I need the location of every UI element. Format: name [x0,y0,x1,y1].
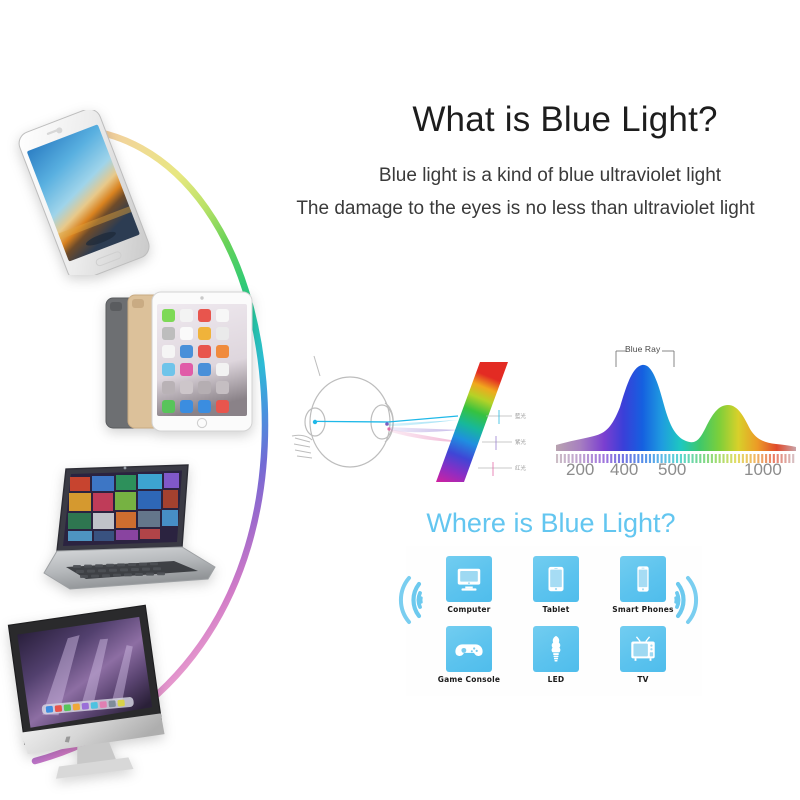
desktop-computer-icon [446,556,492,602]
subtitle-line-1: Blue light is a kind of blue ultraviolet… [300,165,800,187]
gamepad-icon [446,626,492,672]
where-is-blue-light-title: Where is Blue Light? [420,508,682,539]
white-smartphone-photo [8,110,158,275]
smartphone-icon [620,556,666,602]
device-label-tablet: Tablet [515,605,597,614]
tablet-trio-photo [100,282,265,432]
silver-laptop-photo [30,455,220,610]
device-label-led: LED [515,675,597,684]
svg-text:紫光: 紫光 [515,438,527,446]
device-item-computer[interactable]: Computer [446,556,492,602]
wifi-waves-left-icon [379,566,425,634]
device-item-tv[interactable]: TV [620,626,666,672]
imac-desktop-photo [0,600,190,780]
device-item-game-console[interactable]: Game Console [446,626,492,672]
svg-text:藍光: 藍光 [515,412,527,420]
spectrum-chart: 200 400 500 1000 [548,335,800,490]
wifi-waves-right-icon [672,566,718,634]
device-label-smart-phones: Smart Phones [602,605,684,614]
lightbulb-icon [533,626,579,672]
device-label-tv: TV [602,675,684,684]
television-icon [620,626,666,672]
axis-tick-500: 500 [658,460,686,479]
svg-text:红光: 红光 [515,464,527,472]
device-item-led[interactable]: LED [533,626,579,672]
device-item-tablet[interactable]: Tablet [533,556,579,602]
axis-tick-200: 200 [566,460,594,479]
subtitle-line-2: The damage to the eyes is no less than u… [248,198,800,220]
device-item-smart-phones[interactable]: Smart Phones [620,556,666,602]
eye-diagram-graphic: 藍光 紫光 红光 [290,350,530,495]
axis-tick-400: 400 [610,460,638,479]
page-title: What is Blue Light? [330,100,800,140]
device-label-game-console: Game Console [428,675,510,684]
infographic-canvas: 藍光 紫光 红光 Blue Ray [0,0,800,800]
device-label-computer: Computer [428,605,510,614]
axis-tick-1000: 1000 [744,460,782,479]
tablet-icon [533,556,579,602]
